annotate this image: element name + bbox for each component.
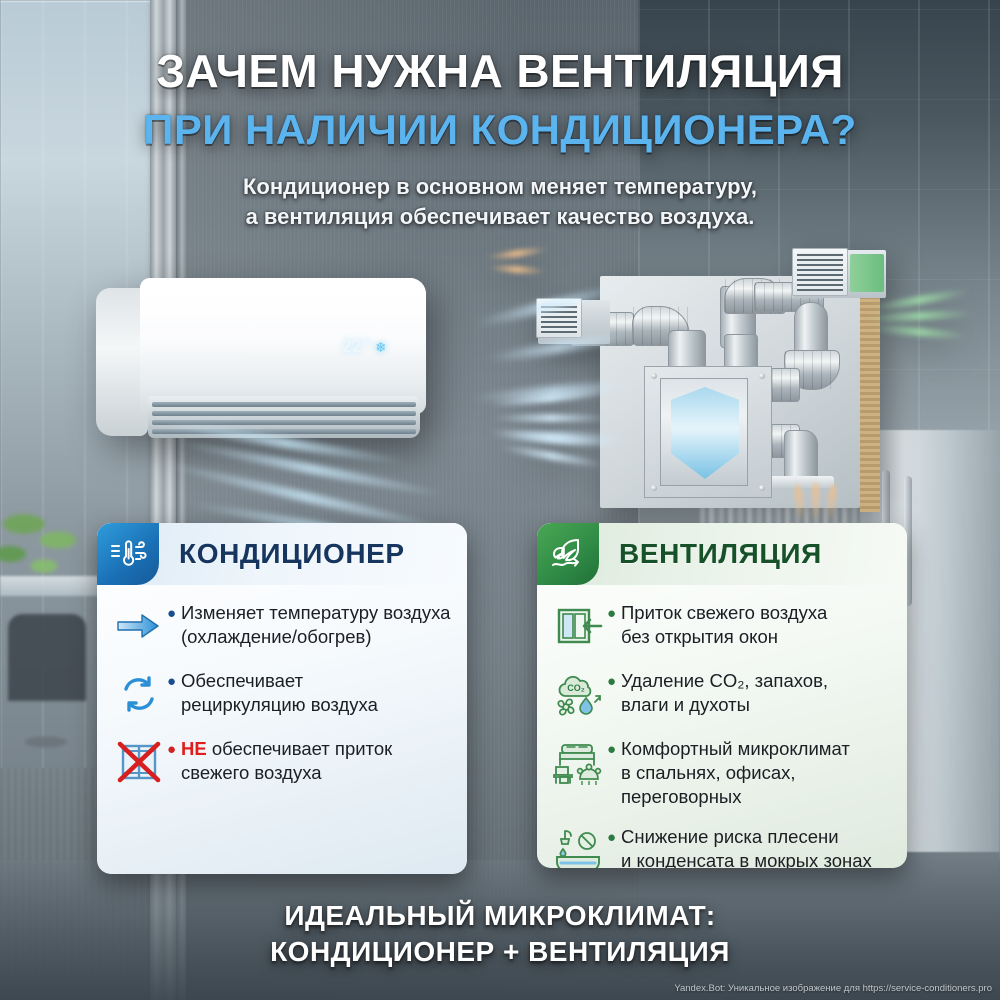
- card-ventilation-title: ВЕНТИЛЯЦИЯ: [599, 523, 907, 585]
- bed-desk-meeting-icon: [551, 735, 607, 789]
- bullet-marker: ●: [607, 735, 621, 757]
- list-item-text: Обеспечивает рециркуляцию воздуха: [181, 667, 451, 717]
- ac-air-outlet: [148, 396, 420, 438]
- bullet-marker: ●: [607, 823, 621, 845]
- card-ventilation: ВЕНТИЛЯЦИЯ ● Приток свежего воздуха без …: [537, 523, 907, 868]
- list-item-text: НЕ обеспечивает приток свежего воздуха: [181, 735, 451, 785]
- list-item: ● Приток свежего воздуха без открытия ок…: [551, 599, 891, 653]
- footer-line-1: ИДЕАЛЬНЫЙ МИКРОКЛИМАТ:: [0, 898, 1000, 934]
- ac-display-panel: 22°C ❄: [342, 334, 420, 360]
- watermark: Yandex.Bot: Уникальное изображение для h…: [674, 983, 992, 994]
- room-airflow-streams: [470, 290, 650, 530]
- bullet-marker: ●: [607, 667, 621, 689]
- supply-air-opening: [850, 254, 884, 292]
- infographic-canvas: 22°C ❄: [0, 0, 1000, 1000]
- card-conditioner: КОНДИЦИОНЕР ● Изменяет температуру возду…: [97, 523, 467, 874]
- snowflake-icon: ❄: [376, 338, 385, 356]
- card-ventilation-header: ВЕНТИЛЯЦИЯ: [537, 523, 907, 585]
- list-item: CO₂ ● Удаление CO₂, запахо: [551, 667, 891, 721]
- list-item: ● Изменяет температуру воздуха (охлажден…: [111, 599, 451, 653]
- title-line-1: ЗАЧЕМ НУЖНА ВЕНТИЛЯЦИЯ: [0, 44, 1000, 98]
- negation-word: НЕ: [181, 738, 207, 759]
- footer-line-2: КОНДИЦИОНЕР + ВЕНТИЛЯЦИЯ: [0, 934, 1000, 970]
- recycle-arrows-icon: [111, 667, 167, 721]
- office-chair: [8, 614, 86, 764]
- list-item: ● Комфортный микроклимат в спальнях, офи…: [551, 735, 891, 809]
- card-ventilation-body: ● Приток свежего воздуха без открытия ок…: [537, 585, 907, 868]
- card-conditioner-title: КОНДИЦИОНЕР: [159, 523, 467, 585]
- bullet-marker: ●: [167, 667, 181, 689]
- list-item: ● НЕ обеспечивает приток свежего воздуха: [111, 735, 451, 789]
- arrow-right-icon: [111, 599, 167, 653]
- co2-fan-droplet-icon: CO₂: [551, 667, 607, 721]
- bullet-marker: ●: [607, 599, 621, 621]
- thermometer-wind-icon: [97, 523, 159, 585]
- subtitle-line-2: а вентиляция обеспечивает качество возду…: [0, 202, 1000, 232]
- title-line-2: ПРИ НАЛИЧИИ КОНДИЦИОНЕРА?: [0, 106, 1000, 154]
- subtitle: Кондиционер в основном меняет температур…: [0, 172, 1000, 232]
- supply-airflow-green: [866, 292, 976, 348]
- bathtub-no-mold-icon: [551, 823, 607, 868]
- subtitle-line-1: Кондиционер в основном меняет температур…: [0, 172, 1000, 202]
- window-inflow-icon: [551, 599, 607, 653]
- list-item: ● Снижение риска плесени и конденсата в …: [551, 823, 891, 868]
- list-item-text: Комфортный микроклимат в спальнях, офиса…: [621, 735, 891, 809]
- list-item-text: Изменяет температуру воздуха (охлаждение…: [181, 599, 451, 649]
- leaf-airflow-icon: [537, 523, 599, 585]
- list-item-text: Приток свежего воздуха без открытия окон: [621, 599, 891, 649]
- air-grille-right-icon: [792, 248, 848, 296]
- duct-down-to-diffuser: [784, 430, 818, 482]
- exhaust-airflow-diffuser: [786, 480, 846, 524]
- list-item: ● Обеспечивает рециркуляцию воздуха: [111, 667, 451, 721]
- card-conditioner-header: КОНДИЦИОНЕР: [97, 523, 467, 585]
- list-item-text: Удаление CO₂, запахов, влаги и духоты: [621, 667, 891, 717]
- office-plant: [0, 500, 84, 620]
- ac-temperature-value: 22°C: [342, 337, 371, 357]
- page-title: ЗАЧЕМ НУЖНА ВЕНТИЛЯЦИЯ ПРИ НАЛИЧИИ КОНДИ…: [0, 44, 1000, 154]
- svg-text:CO₂: CO₂: [567, 683, 585, 693]
- footer-slogan: ИДЕАЛЬНЫЙ МИКРОКЛИМАТ: КОНДИЦИОНЕР + ВЕН…: [0, 898, 1000, 970]
- heat-exchanger-core: [660, 378, 748, 486]
- crossed-window-icon: [111, 735, 167, 789]
- bullet-marker: ●: [167, 599, 181, 621]
- card-conditioner-body: ● Изменяет температуру воздуха (охлажден…: [97, 585, 467, 813]
- air-conditioner-unit: 22°C ❄: [96, 278, 426, 446]
- list-item-text: Снижение риска плесени и конденсата в мо…: [621, 823, 891, 868]
- bullet-marker: ●: [167, 735, 181, 757]
